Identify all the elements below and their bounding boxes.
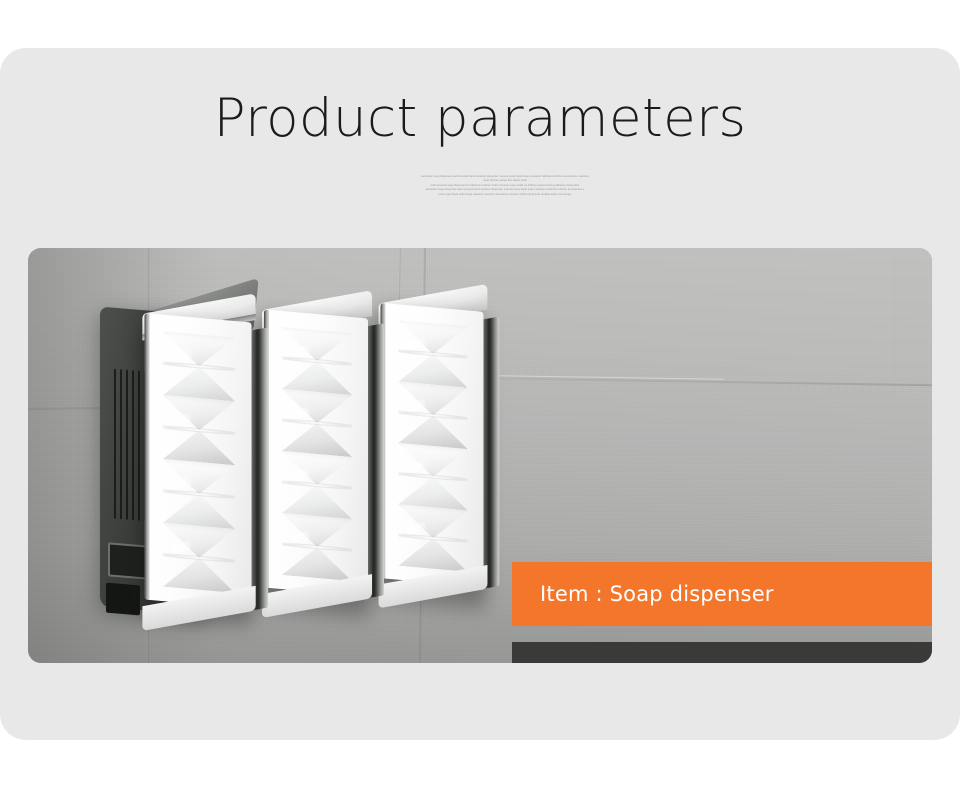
diamond-emboss	[282, 513, 352, 581]
diamond-emboss	[398, 504, 467, 571]
diamond-emboss	[282, 389, 352, 457]
diamond-emboss	[398, 382, 467, 449]
dispenser-diamond-pattern	[398, 320, 467, 574]
parameter-text: Color : Chrome , White , Gold	[512, 662, 853, 663]
dispenser-unit	[381, 303, 484, 587]
dispenser-front-face	[381, 303, 484, 587]
dispenser-diamond-pattern	[163, 331, 235, 595]
subtitle-microtext: - automatic soap dispenser wall mounted …	[335, 170, 675, 198]
dispenser-diamond-pattern	[282, 327, 352, 583]
product-photo: Item : Soap dispenser Color : Chrome , W…	[28, 248, 932, 663]
subtitle-line: press type liquid outlet large capacity …	[335, 193, 675, 198]
parameter-row-color: Color : Chrome , White , Gold	[512, 642, 932, 663]
dispenser-front-face	[144, 313, 251, 609]
diamond-emboss	[398, 320, 467, 387]
diamond-emboss	[282, 327, 352, 395]
dispenser-unit	[144, 313, 251, 609]
diamond-emboss	[163, 523, 235, 593]
bracket-slot	[106, 583, 140, 616]
diamond-emboss	[163, 459, 235, 529]
product-parameters-page: Product parameters - automatic soap disp…	[0, 0, 960, 786]
dispenser-chrome-trim	[144, 313, 149, 600]
dispenser-unit	[264, 309, 368, 596]
parameter-row-item: Item : Soap dispenser	[512, 562, 932, 626]
diamond-emboss	[163, 331, 235, 401]
parameter-text: Item : Soap dispenser	[512, 582, 774, 606]
page-title: Product parameters	[0, 89, 960, 148]
diamond-emboss	[398, 443, 467, 510]
diamond-emboss	[282, 451, 352, 519]
dispenser-front-face	[264, 309, 368, 596]
diamond-emboss	[163, 395, 235, 465]
